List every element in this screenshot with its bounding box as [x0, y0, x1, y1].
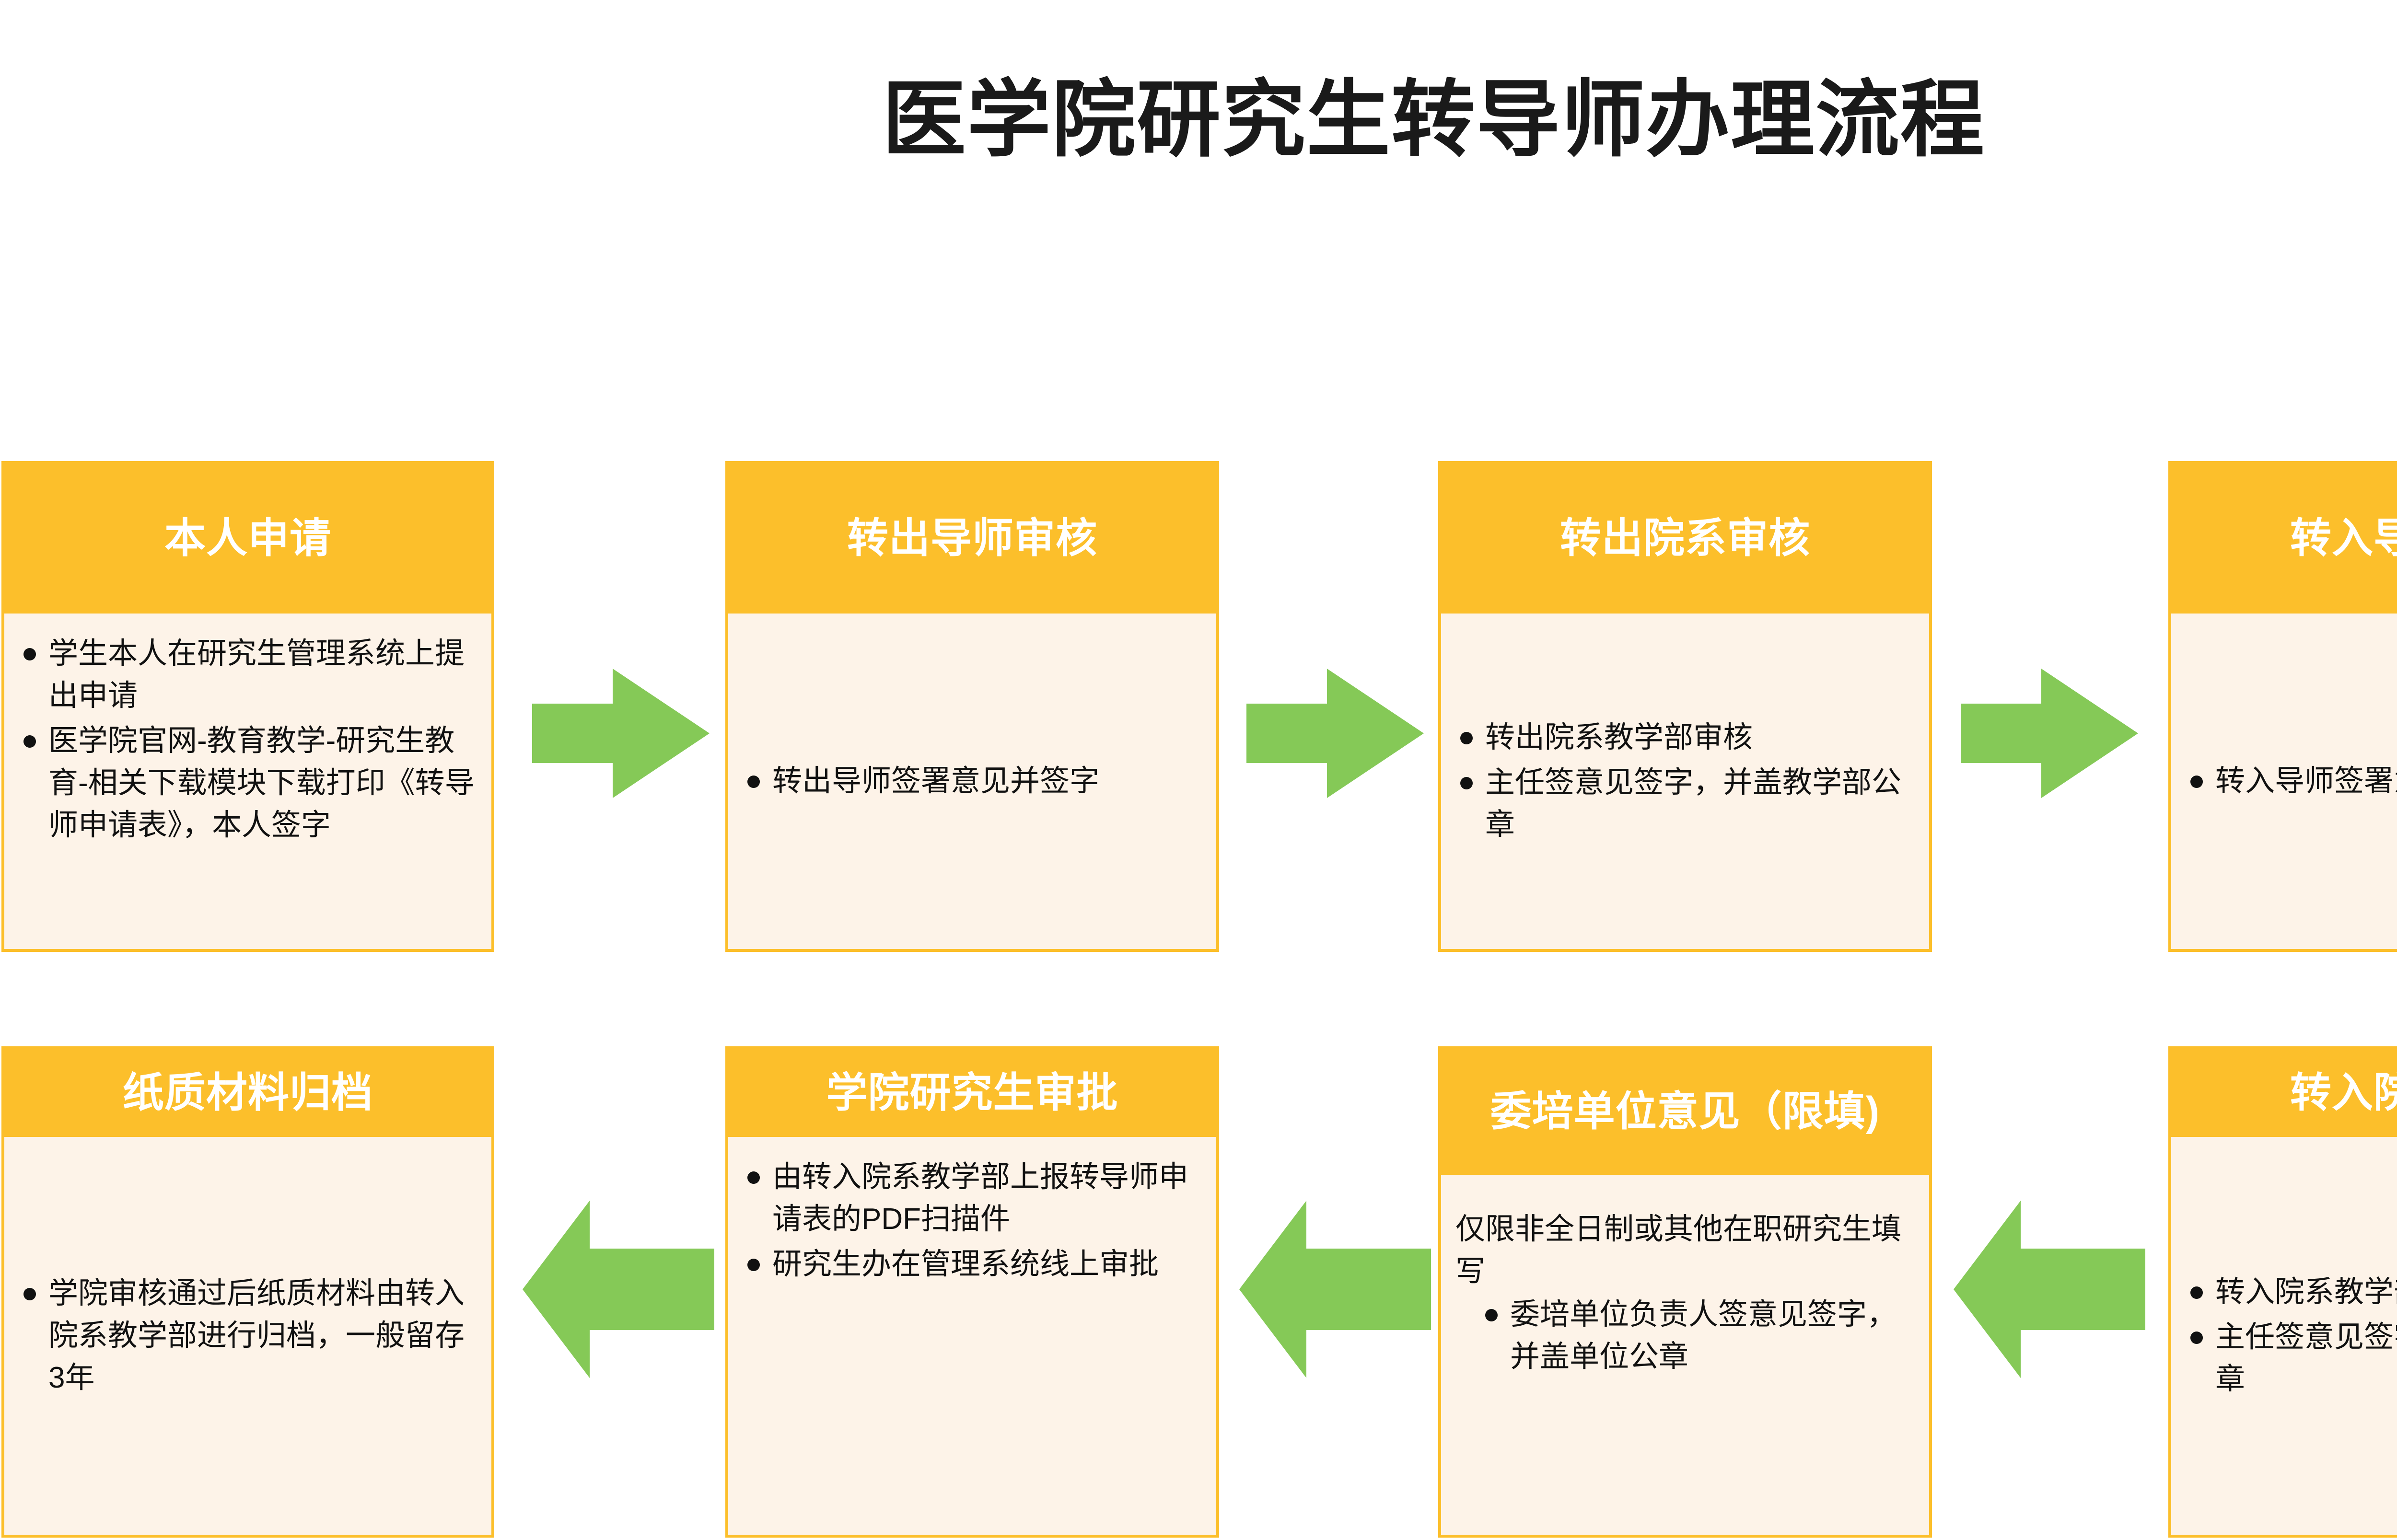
bullet-item: 主任签意见签字，并盖教学部公章: [1455, 762, 1915, 846]
bullet-item: 由转入院系教学部上报转导师申请表的PDF扫描件: [743, 1156, 1202, 1240]
bullet-item: 学生本人在研究生管理系统上提出申请: [19, 633, 477, 717]
flow-step-1-bullets: 学生本人在研究生管理系统上提出申请 医学院官网-教育教学-研究生教育-相关下载模…: [19, 633, 477, 849]
bullet-item: 委培单位负责人签意见签字，并盖单位公章: [1480, 1294, 1915, 1378]
flow-step-3-header: 转出院系审核: [1441, 464, 1929, 614]
flow-step-3[interactable]: 转出院系审核 转出院系教学部审核 主任签意见签字，并盖教学部公章: [1438, 461, 1932, 952]
flow-step-6-body: 仅限非全日制或其他在职研究生填写 委培单位负责人签意见签字，并盖单位公章: [1441, 1175, 1929, 1535]
flow-step-5-header: 转入院系审核: [2171, 1049, 2397, 1137]
flow-step-1[interactable]: 本人申请 学生本人在研究生管理系统上提出申请 医学院官网-教育教学-研究生教育-…: [1, 461, 494, 952]
flow-step-2-bullets: 转出导师签署意见并签字: [743, 760, 1202, 805]
arrow-step6-to-step7: [1239, 1201, 1431, 1378]
arrow-step2-to-step3: [1246, 669, 1424, 798]
arrow-step5-to-step6: [1954, 1201, 2145, 1378]
flow-step-8-body: 学院审核通过后纸质材料由转入院系教学部进行归档，一般留存3年: [4, 1137, 491, 1535]
flow-step-3-bullets: 转出院系教学部审核 主任签意见签字，并盖教学部公章: [1455, 717, 1915, 849]
flowchart-page: 医学院研究生转导师办理流程 本人申请 学生本人在研究生管理系统上提出申请 医学院…: [0, 0, 2397, 1540]
flow-step-5-bullets: 转入院系教学部审核 主任签意见签字，并盖教学部公章: [2186, 1271, 2397, 1403]
flow-step-3-body: 转出院系教学部审核 主任签意见签字，并盖教学部公章: [1441, 614, 1929, 949]
bullet-item: 医学院官网-教育教学-研究生教育-相关下载模块下载打印《转导师申请表》，本人签字: [19, 720, 477, 846]
bullet-item: 研究生办在管理系统线上审批: [743, 1243, 1202, 1285]
flow-step-2[interactable]: 转出导师审核 转出导师签署意见并签字: [725, 461, 1219, 952]
flow-step-4-body: 转入导师签署意见并签字: [2171, 614, 2397, 949]
bullet-item: 转入导师签署意见并签字: [2186, 760, 2397, 802]
bullet-item: 转出院系教学部审核: [1455, 717, 1915, 759]
flow-step-2-header: 转出导师审核: [728, 464, 1216, 614]
flow-step-6-bullets: 委培单位负责人签意见签字，并盖单位公章: [1480, 1294, 1915, 1381]
flow-step-4-header: 转入导师审核: [2171, 464, 2397, 614]
flow-step-6-paragraph: 仅限非全日制或其他在职研究生填写: [1455, 1208, 1915, 1293]
flow-step-8-bullets: 学院审核通过后纸质材料由转入院系教学部进行归档，一般留存3年: [19, 1273, 477, 1402]
flow-step-7-header: 学院研究生审批: [728, 1049, 1216, 1137]
arrow-step7-to-step8: [523, 1201, 714, 1378]
flow-step-2-body: 转出导师签署意见并签字: [728, 614, 1216, 949]
flow-step-5-body: 转入院系教学部审核 主任签意见签字，并盖教学部公章: [2171, 1137, 2397, 1535]
arrow-step1-to-step2: [532, 669, 710, 798]
flow-step-6[interactable]: 委培单位意见（限填) 仅限非全日制或其他在职研究生填写 委培单位负责人签意见签字…: [1438, 1046, 1932, 1538]
flow-step-4-bullets: 转入导师签署意见并签字: [2186, 760, 2397, 805]
flow-step-8-header: 纸质材料归档: [4, 1049, 491, 1137]
bullet-item: 主任签意见签字，并盖教学部公章: [2186, 1316, 2397, 1401]
flow-step-1-body: 学生本人在研究生管理系统上提出申请 医学院官网-教育教学-研究生教育-相关下载模…: [4, 614, 491, 949]
flow-step-4[interactable]: 转入导师审核 转入导师签署意见并签字: [2168, 461, 2397, 952]
bullet-item: 学院审核通过后纸质材料由转入院系教学部进行归档，一般留存3年: [19, 1273, 477, 1399]
flow-step-7-body: 由转入院系教学部上报转导师申请表的PDF扫描件 研究生办在管理系统线上审批: [728, 1137, 1216, 1535]
bullet-item: 转入院系教学部审核: [2186, 1271, 2397, 1313]
flow-step-7-bullets: 由转入院系教学部上报转导师申请表的PDF扫描件 研究生办在管理系统线上审批: [743, 1156, 1202, 1288]
flow-step-1-header: 本人申请: [4, 464, 491, 614]
bullet-item: 转出导师签署意见并签字: [743, 760, 1202, 802]
flow-step-6-header: 委培单位意见（限填): [1441, 1049, 1929, 1175]
page-title: 医学院研究生转导师办理流程: [0, 72, 2397, 168]
flow-step-7[interactable]: 学院研究生审批 由转入院系教学部上报转导师申请表的PDF扫描件 研究生办在管理系…: [725, 1046, 1219, 1538]
flow-step-8[interactable]: 纸质材料归档 学院审核通过后纸质材料由转入院系教学部进行归档，一般留存3年: [1, 1046, 494, 1538]
arrow-step3-to-step4: [1961, 669, 2138, 798]
flow-step-5[interactable]: 转入院系审核 转入院系教学部审核 主任签意见签字，并盖教学部公章: [2168, 1046, 2397, 1538]
